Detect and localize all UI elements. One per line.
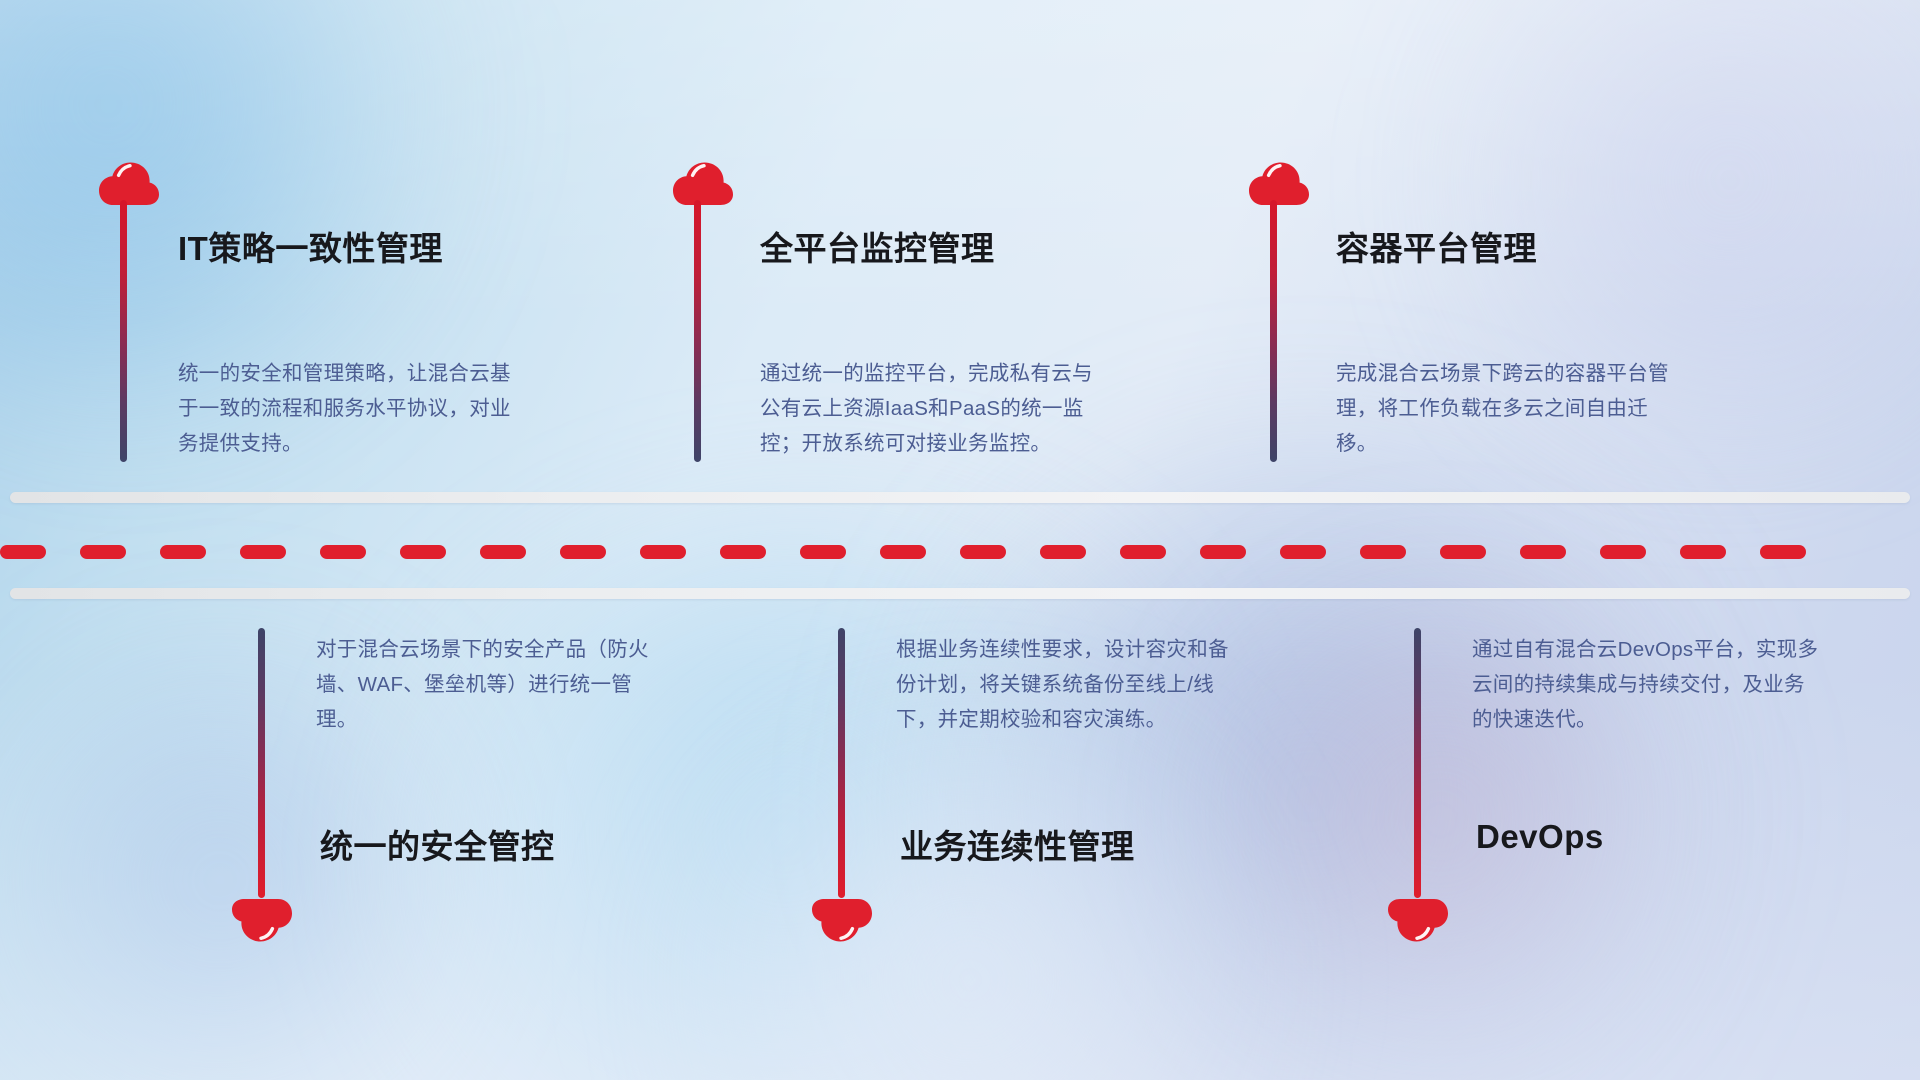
- cloud-icon: [231, 896, 293, 944]
- road-dash: [1440, 545, 1486, 559]
- column-heading: DevOps: [1476, 818, 1604, 856]
- road-dash: [800, 545, 846, 559]
- road-dash: [1200, 545, 1246, 559]
- road-dash: [80, 545, 126, 559]
- road-dash-line: [0, 545, 1920, 559]
- road-dash: [880, 545, 926, 559]
- road-dash: [960, 545, 1006, 559]
- road-dash: [480, 545, 526, 559]
- road-dash: [160, 545, 206, 559]
- road-dash: [720, 545, 766, 559]
- road-dash: [1600, 545, 1646, 559]
- column-body: 对于混合云场景下的安全产品（防火墙、WAF、堡垒机等）进行统一管理。: [316, 632, 668, 737]
- column-body: 根据业务连续性要求，设计容灾和备份计划，将关键系统备份至线上/线下，并定期校验和…: [896, 632, 1248, 737]
- road-dash: [0, 545, 46, 559]
- column-heading: IT策略一致性管理: [178, 222, 443, 270]
- road-dash: [640, 545, 686, 559]
- column-body: 完成混合云场景下跨云的容器平台管理，将工作负载在多云之间自由迁移。: [1336, 356, 1688, 461]
- road-edge-bottom: [10, 588, 1910, 599]
- cloud-icon: [1248, 160, 1310, 208]
- cloud-icon: [1387, 896, 1449, 944]
- cloud-icon: [98, 160, 160, 208]
- road-dash: [1760, 545, 1806, 559]
- road-edge-top: [10, 492, 1910, 503]
- connector-line: [258, 628, 265, 898]
- column-heading: 统一的安全管控: [320, 820, 555, 868]
- column-heading: 全平台监控管理: [760, 222, 995, 270]
- road-dash: [1360, 545, 1406, 559]
- connector-line: [120, 200, 127, 462]
- column-heading: 业务连续性管理: [900, 820, 1135, 868]
- column-body: 通过统一的监控平台，完成私有云与公有云上资源IaaS和PaaS的统一监控；开放系…: [760, 356, 1112, 461]
- connector-line: [1270, 200, 1277, 462]
- road-dash: [1280, 545, 1326, 559]
- column-body: 通过自有混合云DevOps平台，实现多云间的持续集成与持续交付，及业务的快速迭代…: [1472, 632, 1824, 737]
- connector-line: [1414, 628, 1421, 898]
- column-body: 统一的安全和管理策略，让混合云基于一致的流程和服务水平协议，对业务提供支持。: [178, 356, 530, 461]
- road-dash: [240, 545, 286, 559]
- column-heading: 容器平台管理: [1336, 222, 1537, 270]
- cloud-icon: [811, 896, 873, 944]
- infographic-canvas: IT策略一致性管理 统一的安全和管理策略，让混合云基于一致的流程和服务水平协议，…: [0, 0, 1920, 1080]
- road-dash: [1040, 545, 1086, 559]
- connector-line: [694, 200, 701, 462]
- road-dash: [560, 545, 606, 559]
- road-dash: [1680, 545, 1726, 559]
- road-dash: [1520, 545, 1566, 559]
- road-dash: [320, 545, 366, 559]
- connector-line: [838, 628, 845, 898]
- road-dash: [400, 545, 446, 559]
- road-dash: [1120, 545, 1166, 559]
- cloud-icon: [672, 160, 734, 208]
